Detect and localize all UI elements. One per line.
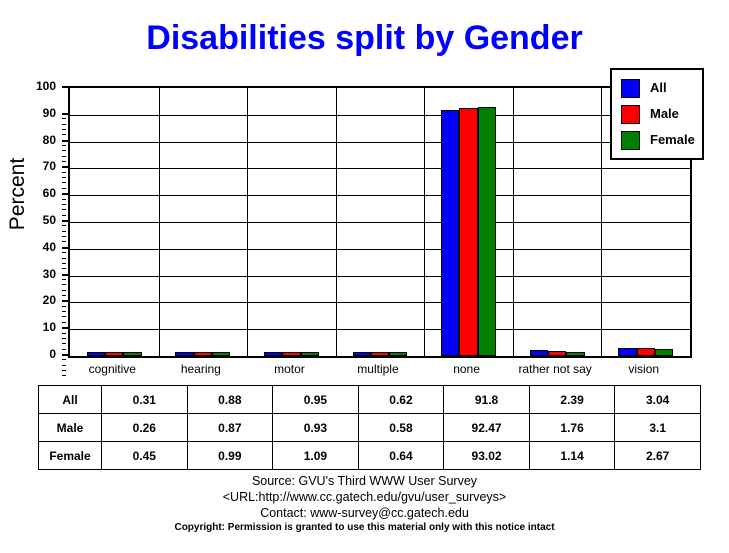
y-axis-title: Percent <box>6 104 30 284</box>
x-tick-label: multiple <box>336 362 421 376</box>
y-tick-minor <box>62 161 66 162</box>
footer-contact: Contact: www-survey@cc.gatech.edu <box>0 505 729 521</box>
bar <box>353 352 371 356</box>
y-tick-minor <box>62 225 66 226</box>
bar <box>441 110 459 356</box>
table-cell: 0.62 <box>358 386 444 414</box>
y-tick-minor <box>62 129 66 130</box>
y-tick-minor <box>62 177 66 178</box>
table-cell: 93.02 <box>444 442 530 470</box>
y-tick-label: 30 <box>43 268 56 280</box>
chart-canvas: Disabilities split by Gender 01020304050… <box>0 0 729 553</box>
legend-swatch-icon <box>621 105 640 124</box>
legend-item: Male <box>612 102 702 128</box>
table-cell: 0.45 <box>102 442 188 470</box>
y-tick-minor <box>62 338 66 339</box>
page-title: Disabilities split by Gender <box>0 18 729 58</box>
footer-copyright: Copyright: Permission is granted to use … <box>0 521 729 535</box>
y-tick-label: 0 <box>49 348 56 360</box>
y-tick-minor <box>62 204 66 205</box>
table-cell: 1.09 <box>273 442 359 470</box>
x-tick-label: vision <box>601 362 686 376</box>
y-tick-minor <box>62 349 66 350</box>
y-tick-minor <box>62 236 66 237</box>
bar <box>282 352 300 356</box>
y-tick-minor <box>62 268 66 269</box>
bar <box>212 352 230 356</box>
table-row-header: All <box>39 386 102 414</box>
x-axis: cognitivehearingmotormultiplenonerather … <box>68 362 692 380</box>
y-tick-minor <box>62 150 66 151</box>
x-tick-label: rather not say <box>513 362 598 376</box>
x-tick-label: motor <box>247 362 332 376</box>
y-tick-label: 90 <box>43 107 56 119</box>
bar <box>123 352 141 356</box>
bar <box>301 352 319 356</box>
bar <box>548 351 566 356</box>
y-tick-label: 50 <box>43 214 56 226</box>
bar-group <box>336 88 425 356</box>
y-tick-minor <box>62 375 66 376</box>
y-tick-minor <box>62 359 66 360</box>
legend-item: All <box>612 76 702 102</box>
table-cell: 92.47 <box>444 414 530 442</box>
table-cell: 0.95 <box>273 386 359 414</box>
table-cell: 1.14 <box>529 442 615 470</box>
x-tick-label: cognitive <box>70 362 155 376</box>
footer: Source: GVU's Third WWW User Survey <URL… <box>0 473 729 535</box>
y-tick-label: 80 <box>43 134 56 146</box>
table-cell: 0.64 <box>358 442 444 470</box>
bar-group <box>247 88 336 356</box>
bar <box>655 349 673 356</box>
bar-group <box>424 88 513 356</box>
legend-swatch-icon <box>621 79 640 98</box>
y-tick-minor <box>62 311 66 312</box>
bar <box>87 352 105 356</box>
y-tick-minor <box>62 199 66 200</box>
y-tick-minor <box>62 145 66 146</box>
x-tick-label: hearing <box>159 362 244 376</box>
y-tick-minor <box>62 263 66 264</box>
y-tick-minor <box>62 172 66 173</box>
y-tick-minor <box>62 322 66 323</box>
table-row: Male0.260.870.930.5892.471.763.1 <box>39 414 701 442</box>
table-cell: 1.76 <box>529 414 615 442</box>
y-tick-label: 20 <box>43 294 56 306</box>
table-cell: 0.31 <box>102 386 188 414</box>
y-tick-minor <box>62 215 66 216</box>
y-tick-label: 40 <box>43 241 56 253</box>
y-tick-minor <box>62 118 66 119</box>
y-tick-minor <box>62 241 66 242</box>
y-tick-minor <box>62 279 66 280</box>
table-row: Female0.450.991.090.6493.021.142.67 <box>39 442 701 470</box>
bar <box>175 352 193 356</box>
table-cell: 0.93 <box>273 414 359 442</box>
bar <box>478 107 496 356</box>
table-cell: 0.58 <box>358 414 444 442</box>
legend-item: Female <box>612 128 702 154</box>
y-tick-label: 70 <box>43 160 56 172</box>
bar <box>618 348 636 356</box>
y-tick-minor <box>62 306 66 307</box>
y-tick-minor <box>62 370 66 371</box>
table-row-header: Female <box>39 442 102 470</box>
bar <box>264 352 282 356</box>
table-cell: 2.67 <box>615 442 701 470</box>
bar <box>389 352 407 356</box>
bar-group <box>513 88 602 356</box>
bar <box>459 108 477 356</box>
y-tick-label: 60 <box>43 187 56 199</box>
table-cell: 3.04 <box>615 386 701 414</box>
y-tick-minor <box>62 316 66 317</box>
bar <box>105 352 123 356</box>
y-tick-label: 100 <box>36 80 56 92</box>
y-tick-minor <box>62 209 66 210</box>
legend-item-label: Male <box>650 106 679 122</box>
y-tick-minor <box>62 252 66 253</box>
y-tick-minor <box>62 333 66 334</box>
x-tick-label: none <box>424 362 509 376</box>
data-table: All0.310.880.950.6291.82.393.04Male0.260… <box>38 385 701 470</box>
footer-url: <URL:http://www.cc.gatech.edu/gvu/user_s… <box>0 489 729 505</box>
bars-layer <box>70 88 690 356</box>
bar <box>566 352 584 356</box>
table-cell: 3.1 <box>615 414 701 442</box>
legend-item-label: All <box>650 80 667 96</box>
bar <box>371 352 389 356</box>
bar <box>637 348 655 356</box>
y-tick-minor <box>62 343 66 344</box>
table-cell: 0.88 <box>187 386 273 414</box>
y-tick-minor <box>62 134 66 135</box>
table-cell: 0.99 <box>187 442 273 470</box>
bar <box>194 352 212 356</box>
table-row: All0.310.880.950.6291.82.393.04 <box>39 386 701 414</box>
table-cell: 0.26 <box>102 414 188 442</box>
data-table-body: All0.310.880.950.6291.82.393.04Male0.260… <box>39 386 701 470</box>
y-tick-minor <box>62 290 66 291</box>
y-tick-minor <box>62 231 66 232</box>
y-tick-minor <box>62 365 66 366</box>
y-tick-minor <box>62 295 66 296</box>
y-tick-minor <box>62 258 66 259</box>
y-tick-minor <box>62 124 66 125</box>
legend-item-label: Female <box>650 132 695 148</box>
bar-group <box>159 88 248 356</box>
table-cell: 2.39 <box>529 386 615 414</box>
y-tick-minor <box>62 188 66 189</box>
bar-group <box>70 88 159 356</box>
legend: AllMaleFemale <box>610 68 704 160</box>
y-tick-minor <box>62 156 66 157</box>
y-tick-label: 10 <box>43 321 56 333</box>
y-tick-minor <box>62 284 66 285</box>
legend-swatch-icon <box>621 131 640 150</box>
footer-source: Source: GVU's Third WWW User Survey <box>0 473 729 489</box>
table-cell: 91.8 <box>444 386 530 414</box>
y-tick-minor <box>62 182 66 183</box>
table-cell: 0.87 <box>187 414 273 442</box>
table-row-header: Male <box>39 414 102 442</box>
bar <box>530 350 548 356</box>
